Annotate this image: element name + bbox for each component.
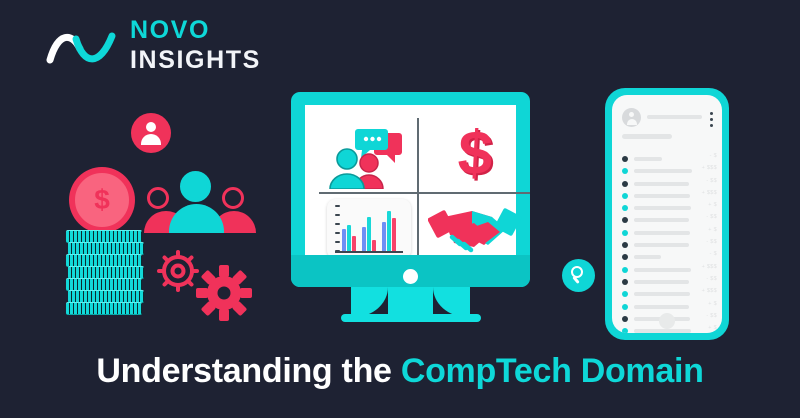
chart-bar <box>382 222 386 251</box>
transaction-list[interactable]: - $+ $$$- $$+ $$$+ $- $$+ $- $$- $+ $$$-… <box>622 153 717 333</box>
transaction-status-dot <box>622 181 628 187</box>
transaction-label-placeholder <box>634 268 691 272</box>
transaction-amount: - $ <box>710 251 717 257</box>
transaction-amount: - $$ <box>706 239 717 245</box>
phone-header <box>622 108 714 142</box>
transaction-row[interactable]: - $$ <box>622 276 717 288</box>
page-title: Understanding the CompTech Domain <box>0 352 800 391</box>
transaction-amount: + $$$ <box>702 165 717 171</box>
transaction-status-dot <box>622 291 628 297</box>
transaction-row[interactable]: + $$$ <box>622 165 717 177</box>
logo-line-insights: INSIGHTS <box>130 48 261 73</box>
chart-bar <box>342 229 346 251</box>
chart-x-axis <box>335 251 403 253</box>
desktop-monitor: $ <box>291 92 530 304</box>
dollar-glyph: $ <box>456 123 494 185</box>
transaction-label-placeholder <box>634 206 691 210</box>
transaction-amount: + $ <box>708 202 717 208</box>
transaction-label-placeholder <box>634 157 662 161</box>
transaction-row[interactable]: - $ <box>622 251 717 263</box>
transaction-status-dot <box>622 242 628 248</box>
logo-line-novo: NOVO <box>130 18 261 43</box>
person-center-head <box>180 171 211 202</box>
chart-bar <box>347 225 351 251</box>
poster-canvas: NOVO INSIGHTS $ <box>0 0 800 418</box>
transaction-amount: - $$ <box>706 276 717 282</box>
transaction-amount: - $$ <box>706 313 717 319</box>
coin-stack-layer <box>66 302 142 315</box>
transaction-status-dot <box>622 217 628 223</box>
transaction-label-placeholder <box>634 194 690 198</box>
bar-chart-card <box>327 199 413 261</box>
avatar-head-shape <box>146 122 156 132</box>
phone-frame: - $+ $$$- $$+ $$$+ $- $$+ $- $$- $+ $$$-… <box>605 88 729 340</box>
transaction-status-dot <box>622 168 628 174</box>
transaction-label-placeholder <box>634 255 661 259</box>
transaction-label-placeholder <box>634 292 690 296</box>
transaction-row[interactable]: - $$ <box>622 214 717 226</box>
chart-bar <box>367 217 371 251</box>
transaction-row[interactable]: - $$ <box>622 178 717 190</box>
phone-screen: - $+ $$$- $$+ $$$+ $- $$+ $- $$- $+ $$$-… <box>612 95 722 333</box>
monitor-stand-neck <box>388 287 433 317</box>
avatar-body-shape <box>627 119 637 125</box>
avatar-head-shape <box>629 112 634 117</box>
transaction-status-dot <box>622 205 628 211</box>
header-title-placeholder <box>647 115 702 119</box>
transaction-row[interactable]: + $ <box>622 227 717 239</box>
transaction-label-placeholder <box>634 231 690 235</box>
people-chat-illustration <box>325 121 413 189</box>
phone-home-button[interactable] <box>659 313 675 329</box>
transaction-status-dot <box>622 328 628 333</box>
bar-group <box>342 225 356 251</box>
transaction-label-placeholder <box>634 182 689 186</box>
transaction-row[interactable]: - $$ <box>622 239 717 251</box>
person-right-head <box>222 187 244 209</box>
transaction-amount: + $$$ <box>702 264 717 270</box>
chart-bar <box>392 218 396 251</box>
transaction-label-placeholder <box>634 329 691 333</box>
transaction-row[interactable]: + $$$ <box>622 190 717 202</box>
dollar-sign-illustration: $ <box>430 119 520 189</box>
transaction-status-dot <box>622 279 628 285</box>
bar-group <box>382 211 396 251</box>
brand-logo[interactable]: NOVO INSIGHTS <box>46 18 261 73</box>
transaction-status-dot <box>622 267 628 273</box>
transaction-row[interactable]: + $ <box>622 301 717 313</box>
transaction-label-placeholder <box>634 280 689 284</box>
people-group-icon <box>147 171 262 233</box>
handshake-illustration <box>428 201 523 263</box>
chart-y-axis <box>335 205 338 251</box>
transaction-amount: - $$ <box>706 214 717 220</box>
dollar-coin-symbol: $ <box>73 171 131 229</box>
person-left-head <box>147 187 169 209</box>
chart-card-surface <box>327 199 411 259</box>
transaction-label-placeholder <box>634 218 689 222</box>
transaction-status-dot <box>622 254 628 260</box>
novo-wave-mark <box>46 22 118 70</box>
transaction-amount: - $ <box>710 153 717 159</box>
bar-group <box>362 217 376 251</box>
monitor-stand-base <box>341 314 481 322</box>
coin-stack-icon <box>66 230 144 315</box>
transaction-status-dot <box>622 156 628 162</box>
header-subtitle-placeholder <box>622 134 672 139</box>
transaction-label-placeholder <box>634 243 689 247</box>
transaction-amount: - $$ <box>706 178 717 184</box>
transaction-amount: + $$$ <box>702 190 717 196</box>
left-icon-cluster: $ <box>55 105 280 320</box>
transaction-amount: + $ <box>708 227 717 233</box>
chart-bar <box>372 240 376 251</box>
dollar-coin-icon: $ <box>69 167 135 233</box>
transaction-row[interactable]: + $$$ <box>622 264 717 276</box>
transaction-label-placeholder <box>634 169 692 173</box>
transaction-amount: + $$$ <box>702 288 717 294</box>
search-icon[interactable] <box>562 259 595 292</box>
transaction-status-dot <box>622 193 628 199</box>
transaction-row[interactable]: + $ <box>622 202 717 214</box>
title-accent: CompTech Domain <box>401 352 704 390</box>
transaction-amount: + $ <box>708 325 717 331</box>
logo-wordmark: NOVO INSIGHTS <box>130 18 261 73</box>
transaction-row[interactable]: + $$$ <box>622 288 717 300</box>
chart-bar <box>352 236 356 251</box>
three-dot-menu-icon[interactable] <box>710 112 713 127</box>
avatar-body-shape <box>141 134 161 145</box>
transaction-status-dot <box>622 230 628 236</box>
title-plain: Understanding the <box>96 352 391 390</box>
monitor-power-dot <box>403 269 418 284</box>
monitor-screen: $ <box>305 105 516 255</box>
user-avatar[interactable] <box>622 108 641 127</box>
transaction-row[interactable]: - $ <box>622 153 717 165</box>
transaction-status-dot <box>622 304 628 310</box>
chart-bar <box>362 227 366 251</box>
chart-bar <box>387 211 391 251</box>
mobile-device: - $+ $$$- $$+ $$$+ $- $$+ $- $$- $+ $$$-… <box>605 88 729 340</box>
transaction-status-dot <box>622 316 628 322</box>
person-center-body <box>169 204 224 233</box>
transaction-label-placeholder <box>634 305 689 309</box>
transaction-amount: + $ <box>708 301 717 307</box>
quadrant-divider-horizontal <box>319 192 530 194</box>
user-avatar-badge <box>131 113 171 153</box>
chart-bars <box>342 205 404 251</box>
gear-filled-icon <box>196 265 252 321</box>
